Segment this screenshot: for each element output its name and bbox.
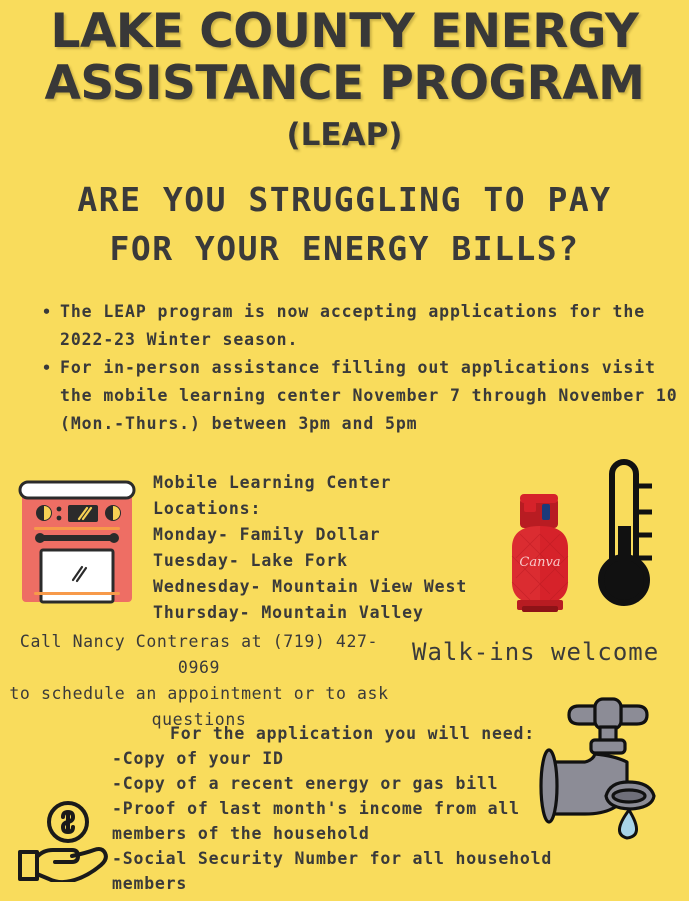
list-item: The LEAP program is now accepting applic… bbox=[42, 298, 682, 354]
thermometer-icon bbox=[598, 452, 660, 618]
tank-brand-label: Canva bbox=[519, 555, 560, 570]
list-item: For in-person assistance filling out app… bbox=[42, 354, 682, 438]
program-bullet-list: The LEAP program is now accepting applic… bbox=[42, 298, 682, 438]
list-item: -Social Security Number for all househol… bbox=[112, 846, 572, 896]
walk-ins-welcome-note: Walk-ins welcome bbox=[412, 637, 659, 667]
page-title-acronym: (LEAP) bbox=[0, 116, 689, 154]
oven-icon bbox=[18, 480, 136, 609]
list-item: -Copy of your ID bbox=[112, 746, 572, 771]
propane-tank-icon: Canva bbox=[500, 488, 580, 620]
application-requirements-block: For the application you will need: -Copy… bbox=[112, 721, 572, 896]
mobile-learning-center-locations: Mobile Learning Center Locations: Monday… bbox=[153, 470, 503, 626]
list-item: Wednesday- Mountain View West bbox=[153, 574, 503, 600]
contact-block: Call Nancy Contreras at (719) 427-0969 t… bbox=[4, 629, 394, 733]
subheadline-line-2: FOR YOUR ENERGY BILLS? bbox=[0, 224, 689, 273]
faucet-icon bbox=[533, 694, 683, 846]
list-item: -Proof of last month's income from all m… bbox=[112, 796, 572, 846]
contact-line-2: to schedule an appointment or to ask bbox=[4, 681, 394, 707]
list-item: -Copy of a recent energy or gas bill bbox=[112, 771, 572, 796]
list-item: Tuesday- Lake Fork bbox=[153, 548, 503, 574]
poster-title-block: LAKE COUNTY ENERGY ASSISTANCE PROGRAM (L… bbox=[0, 6, 689, 154]
page-title-line-1: LAKE COUNTY ENERGY bbox=[0, 6, 689, 58]
requirements-heading: For the application you will need: bbox=[112, 721, 572, 746]
subheadline-block: ARE YOU STRUGGLING TO PAY FOR YOUR ENERG… bbox=[0, 175, 689, 273]
list-item: Monday- Family Dollar bbox=[153, 522, 503, 548]
subheadline-line-1: ARE YOU STRUGGLING TO PAY bbox=[0, 175, 689, 224]
flyer-poster: LAKE COUNTY ENERGY ASSISTANCE PROGRAM (L… bbox=[0, 0, 689, 901]
locations-heading: Mobile Learning Center Locations: bbox=[153, 470, 503, 522]
page-title-line-2: ASSISTANCE PROGRAM bbox=[0, 58, 689, 110]
hand-holding-coin-icon bbox=[18, 800, 118, 886]
contact-line-1: Call Nancy Contreras at (719) 427-0969 bbox=[4, 629, 394, 681]
list-item: Thursday- Mountain Valley bbox=[153, 600, 503, 626]
